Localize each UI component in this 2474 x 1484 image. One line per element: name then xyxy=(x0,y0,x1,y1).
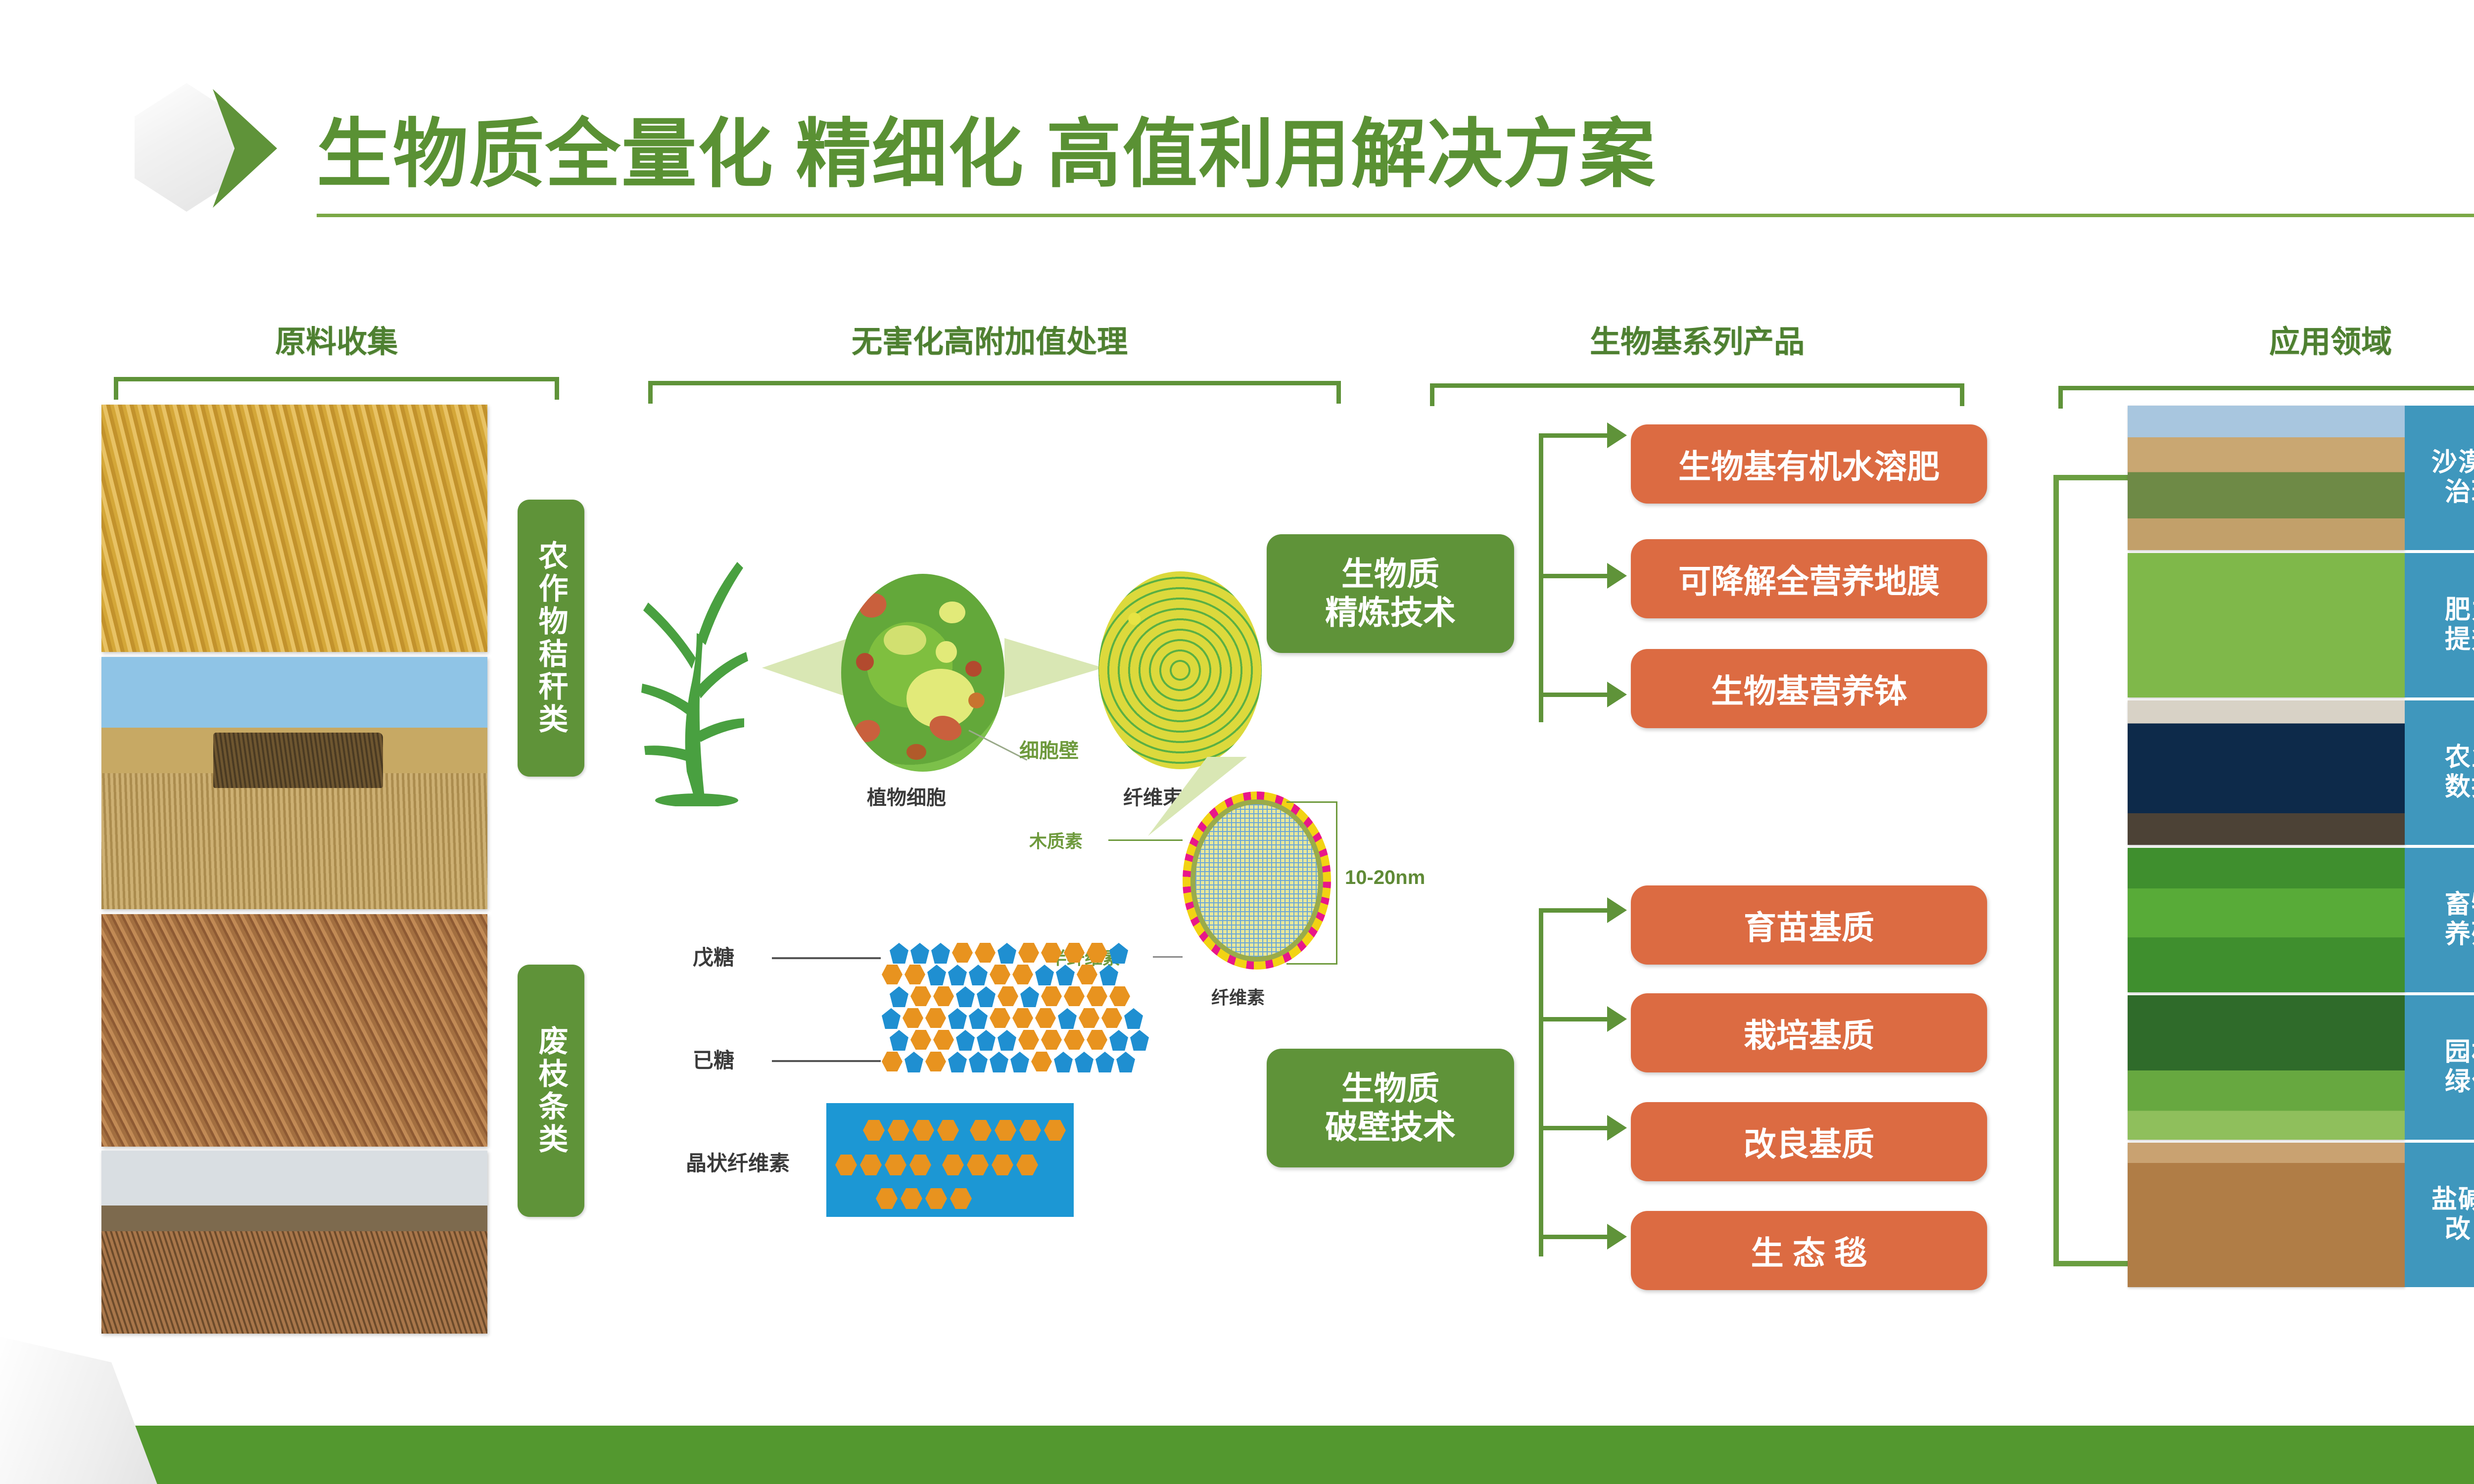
glucose-unit-icon xyxy=(925,1188,947,1209)
glucose-unit-icon xyxy=(876,1188,898,1209)
hexose-unit-icon xyxy=(1064,943,1085,963)
arrowhead-p6 xyxy=(1607,1224,1627,1250)
bracket-products xyxy=(1430,383,1964,406)
infographic-canvas: 生物质全量化 精细化 高值利用解决方案 原料收集 无害化高附加值处理 生物基系列… xyxy=(0,0,2474,1484)
grass-plant-icon xyxy=(622,539,771,806)
pentose-unit-icon xyxy=(1054,1052,1073,1072)
hexose-unit-icon xyxy=(975,943,996,963)
product-box-ecological-blanket[interactable]: 生 态 毯 xyxy=(1631,1211,1987,1290)
pentose-unit-icon xyxy=(990,1052,1008,1072)
glucose-unit-icon xyxy=(995,1120,1016,1141)
arrowhead-p0 xyxy=(1607,422,1627,448)
glucose-unit-icon xyxy=(992,1155,1013,1175)
pentose-unit-icon xyxy=(948,1052,967,1072)
pentose-unit-icon xyxy=(1130,1030,1149,1051)
glucose-unit-icon xyxy=(912,1120,934,1141)
vineyard-pruning-photo xyxy=(101,1151,487,1334)
crystalline-row xyxy=(876,1188,972,1209)
bracket-processing xyxy=(648,381,1341,404)
pentose-unit-icon xyxy=(969,965,988,985)
pentose-unit-icon xyxy=(969,1008,988,1029)
application-label: 盐碱地改良 xyxy=(2405,1143,2474,1287)
pentose-leader-line xyxy=(772,957,881,959)
pentose-unit-icon xyxy=(1095,1052,1114,1072)
pentose-unit-icon xyxy=(998,943,1016,964)
connector-arm-p0 xyxy=(1539,433,1608,438)
crystalline-cellulose-panel xyxy=(826,1103,1074,1217)
dry-branches-photo xyxy=(101,914,487,1147)
label-dimension-10-20nm: 10-20nm xyxy=(1345,867,1425,889)
application-label: 农业数据 xyxy=(2405,700,2474,845)
footer-green-bar xyxy=(111,1426,2474,1484)
hexose-leader-line xyxy=(772,1060,881,1062)
bracket-collection xyxy=(114,377,559,400)
pentose-unit-icon xyxy=(1056,965,1075,985)
glucose-unit-icon xyxy=(937,1120,959,1141)
sugar-chain-row xyxy=(882,1008,1143,1029)
pentose-unit-icon xyxy=(998,1030,1016,1051)
hexose-unit-icon xyxy=(1064,1030,1085,1050)
product-box-cultivation-substrate[interactable]: 栽培基质 xyxy=(1631,993,1987,1072)
application-label: 沙漠化治理 xyxy=(2405,406,2474,550)
arrowhead-p5 xyxy=(1607,1115,1627,1141)
glucose-unit-icon xyxy=(885,1155,906,1175)
cabbage-field-photo xyxy=(2128,553,2405,697)
hexose-unit-icon xyxy=(1012,1008,1033,1028)
agriculture-data-center-photo xyxy=(2128,700,2405,845)
glucose-unit-icon xyxy=(835,1155,857,1175)
label-lignin: 木质素 xyxy=(1029,827,1083,853)
pentose-unit-icon xyxy=(904,1052,923,1072)
application-label: 肥力提升 xyxy=(2405,553,2474,697)
magnify-cone-2 xyxy=(1004,638,1103,697)
hexose-unit-icon xyxy=(1064,986,1085,1006)
lignin-leader-line xyxy=(1108,839,1183,841)
hexose-unit-icon xyxy=(1079,1008,1099,1028)
sugar-chain-row xyxy=(890,986,1130,1007)
section-header-processing: 无害化高附加值处理 xyxy=(643,317,1336,361)
glucose-unit-icon xyxy=(888,1120,909,1141)
hexose-unit-icon xyxy=(990,1008,1010,1028)
hexose-unit-icon xyxy=(904,965,925,984)
hexose-unit-icon xyxy=(952,943,973,963)
arrowhead-p4 xyxy=(1607,1006,1627,1032)
plant-cell-illustration xyxy=(841,574,1004,772)
tech-1-line2: 破壁技术 xyxy=(1325,1109,1456,1145)
connector-arm-p6 xyxy=(1539,1235,1608,1239)
park-landscaping-photo xyxy=(2128,995,2405,1140)
connector-vertical-bottom xyxy=(1539,910,1543,1256)
hexose-unit-icon xyxy=(998,986,1018,1006)
glucose-unit-icon xyxy=(863,1120,885,1141)
pentose-unit-icon xyxy=(956,986,975,1007)
hexose-unit-icon xyxy=(882,965,903,984)
application-label: 园林绿化 xyxy=(2405,995,2474,1140)
tech-1-line1: 生物质 xyxy=(1341,1070,1439,1107)
product-box-improvement-substrate[interactable]: 改良基质 xyxy=(1631,1102,1987,1181)
cellulose-nanofiber-illustration xyxy=(1183,791,1331,970)
application-item[interactable]: 沙漠化治理 xyxy=(2128,406,2474,550)
hexose-unit-icon xyxy=(933,1030,954,1050)
product-box-seedling-substrate[interactable]: 育苗基质 xyxy=(1631,885,1987,965)
pentose-unit-icon xyxy=(977,1030,996,1051)
pentose-unit-icon xyxy=(1109,1030,1128,1051)
section-header-products: 生物基系列产品 xyxy=(1425,317,1969,361)
label-pentose: 戊糖 xyxy=(693,941,734,971)
glucose-unit-icon xyxy=(901,1188,922,1209)
title-underline-divider xyxy=(317,214,2474,217)
sheep-grazing-photo xyxy=(2128,848,2405,992)
hexose-unit-icon xyxy=(933,986,954,1006)
pentose-unit-icon xyxy=(1109,943,1128,964)
bracket-applications-left xyxy=(2053,475,2128,1266)
connector-arm-p4 xyxy=(1539,1017,1608,1021)
hay-bale-field-photo xyxy=(101,657,487,909)
pentose-unit-icon xyxy=(882,1008,901,1029)
corn-stalk-field-photo xyxy=(101,405,487,652)
dimension-tick-top xyxy=(1286,801,1337,803)
tech-box-biomass-cell-wall-breaking[interactable]: 生物质 破壁技术 xyxy=(1267,1049,1514,1167)
crystalline-row xyxy=(835,1155,1038,1175)
glucose-unit-icon xyxy=(967,1155,989,1175)
arrowhead-p3 xyxy=(1607,897,1627,923)
hexose-unit-icon xyxy=(1018,943,1039,963)
hexose-unit-icon xyxy=(925,1052,946,1071)
sugar-chain-row xyxy=(890,943,1128,964)
label-cellulose: 纤维素 xyxy=(1211,983,1265,1009)
glucose-unit-icon xyxy=(1016,1155,1038,1175)
glucose-unit-icon xyxy=(942,1155,964,1175)
saline-soil-photo xyxy=(2128,1143,2405,1287)
pentose-unit-icon xyxy=(1058,1008,1077,1029)
glucose-unit-icon xyxy=(970,1120,992,1141)
hexose-unit-icon xyxy=(1031,1052,1052,1071)
fiber-bundle-illustration xyxy=(1098,571,1262,769)
label-cell-wall: 细胞壁 xyxy=(1019,735,1079,763)
hexose-unit-icon xyxy=(1012,965,1033,984)
connector-arm-p2 xyxy=(1539,693,1608,697)
pentose-unit-icon xyxy=(956,1030,975,1051)
pentose-unit-icon xyxy=(910,943,929,964)
tech-0-line2: 精炼技术 xyxy=(1325,594,1456,631)
application-item[interactable]: 肥力提升 xyxy=(2128,553,2474,697)
hexose-unit-icon xyxy=(1101,1008,1122,1028)
connector-arm-p3 xyxy=(1539,908,1608,913)
pentose-unit-icon xyxy=(977,986,996,1007)
sugar-chain-row xyxy=(890,1030,1149,1051)
hexose-unit-icon xyxy=(1109,986,1130,1006)
hexose-unit-icon xyxy=(903,1008,923,1028)
label-crystalline-cellulose: 晶状纤维素 xyxy=(686,1147,790,1177)
connector-arm-p5 xyxy=(1539,1126,1608,1130)
hexose-unit-icon xyxy=(1041,943,1062,963)
hexose-unit-icon xyxy=(1035,1008,1056,1028)
hexose-unit-icon xyxy=(882,1052,903,1071)
crystalline-row xyxy=(863,1120,1066,1141)
section-header-applications: 应用领域 xyxy=(2108,317,2474,361)
label-hexose: 已糖 xyxy=(693,1044,734,1074)
pentose-unit-icon xyxy=(931,943,950,964)
application-item[interactable]: 盐碱地改良 xyxy=(2128,1143,2474,1287)
page-title: 生物质全量化 精细化 高值利用解决方案 xyxy=(317,93,1656,202)
glucose-unit-icon xyxy=(1019,1120,1041,1141)
product-box-water-soluble-fertilizer[interactable]: 生物基有机水溶肥 xyxy=(1631,424,1987,504)
pentose-unit-icon xyxy=(1075,1052,1094,1072)
hemicellulose-leader-line xyxy=(1153,956,1183,958)
hexose-unit-icon xyxy=(990,965,1010,984)
hexose-unit-icon xyxy=(910,1030,931,1050)
hexose-unit-icon xyxy=(910,986,931,1006)
hexose-unit-icon xyxy=(1041,1030,1062,1050)
glucose-unit-icon xyxy=(860,1155,882,1175)
sugar-chain-row xyxy=(882,965,1118,985)
section-header-collection: 原料收集 xyxy=(163,317,510,361)
pentose-unit-icon xyxy=(969,1052,988,1072)
dimension-tick-bottom xyxy=(1286,963,1337,965)
connector-vertical-top xyxy=(1539,435,1543,722)
product-box-biodegradable-mulch-film[interactable]: 可降解全营养地膜 xyxy=(1631,539,1987,618)
application-item[interactable]: 园林绿化 xyxy=(2128,995,2474,1140)
glucose-unit-icon xyxy=(950,1188,972,1209)
pentose-unit-icon xyxy=(890,1030,908,1051)
pentose-unit-icon xyxy=(1010,1052,1029,1072)
feedstock-tab-waste-branches[interactable]: 废枝条类 xyxy=(518,965,584,1217)
hexose-unit-icon xyxy=(1087,943,1107,963)
pentose-unit-icon xyxy=(927,965,946,985)
hexose-unit-icon xyxy=(1087,986,1107,1006)
application-label: 畜牧养殖 xyxy=(2405,848,2474,992)
pentose-unit-icon xyxy=(890,943,908,964)
pentose-unit-icon xyxy=(1035,965,1054,985)
application-item[interactable]: 畜牧养殖 xyxy=(2128,848,2474,992)
hexose-unit-icon xyxy=(1077,965,1097,984)
tech-0-line1: 生物质 xyxy=(1341,556,1439,592)
desert-control-photo xyxy=(2128,406,2405,550)
connector-arm-p1 xyxy=(1539,574,1608,578)
dimension-bar xyxy=(1336,801,1337,965)
feedstock-tab-crop-straw[interactable]: 农作物秸秆类 xyxy=(518,500,584,777)
product-box-bio-nutrition-pot[interactable]: 生物基营养钵 xyxy=(1631,649,1987,728)
glucose-unit-icon xyxy=(909,1155,931,1175)
pentose-unit-icon xyxy=(890,986,908,1007)
arrowhead-p2 xyxy=(1607,682,1627,707)
pentose-unit-icon xyxy=(1099,965,1118,985)
label-plant-cell: 植物细胞 xyxy=(867,782,946,810)
sugar-chain-row xyxy=(882,1052,1135,1072)
hexose-unit-icon xyxy=(1018,1030,1039,1050)
hexose-unit-icon xyxy=(925,1008,946,1028)
tech-box-biomass-refining[interactable]: 生物质 精炼技术 xyxy=(1267,534,1514,653)
pentose-unit-icon xyxy=(1124,1008,1143,1029)
hexose-unit-icon xyxy=(1041,986,1062,1006)
pentose-unit-icon xyxy=(1020,986,1039,1007)
arrowhead-p1 xyxy=(1607,563,1627,589)
glucose-unit-icon xyxy=(1044,1120,1066,1141)
pentose-unit-icon xyxy=(948,965,967,985)
application-item[interactable]: 农业数据 xyxy=(2128,700,2474,845)
pentose-unit-icon xyxy=(948,1008,967,1029)
pentose-unit-icon xyxy=(1116,1052,1135,1072)
hexose-unit-icon xyxy=(1087,1030,1107,1050)
